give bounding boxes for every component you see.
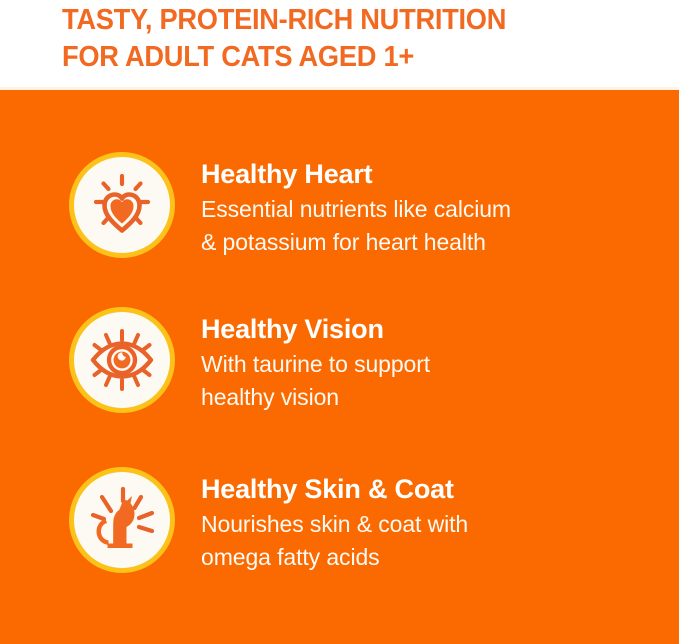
feature-title: Healthy Skin & Coat	[201, 473, 679, 505]
feature-text: Healthy Heart Essential nutrients like c…	[201, 152, 679, 259]
feature-description: With taurine to support healthy vision	[201, 348, 679, 414]
feature-description: Nourishes skin & coat with omega fatty a…	[201, 508, 679, 574]
eye-icon-badge	[69, 307, 175, 413]
feature-item-healthy-vision: Healthy Vision With taurine to support h…	[0, 307, 679, 414]
eye-rays-icon	[69, 307, 175, 413]
feature-description-line-1: With taurine to support	[201, 348, 679, 381]
promo-panel: TASTY, PROTEIN-RICH NUTRITION FOR ADULT …	[0, 0, 679, 644]
cat-icon-badge	[69, 467, 175, 573]
header: TASTY, PROTEIN-RICH NUTRITION FOR ADULT …	[0, 0, 679, 89]
feature-description: Essential nutrients like calcium & potas…	[201, 193, 679, 259]
feature-description-line-2: & potassium for heart health	[201, 226, 679, 259]
heart-icon-badge	[69, 152, 175, 258]
feature-text: Healthy Vision With taurine to support h…	[201, 307, 679, 414]
header-title-line-2: FOR ADULT CATS AGED 1+	[62, 39, 642, 76]
header-title-line-1: TASTY, PROTEIN-RICH NUTRITION	[62, 2, 642, 39]
feature-text: Healthy Skin & Coat Nourishes skin & coa…	[201, 467, 679, 574]
feature-description-line-1: Nourishes skin & coat with	[201, 508, 679, 541]
feature-item-healthy-heart: Healthy Heart Essential nutrients like c…	[0, 152, 679, 259]
cat-rays-icon	[69, 467, 175, 573]
feature-title: Healthy Heart	[201, 158, 679, 190]
feature-description-line-1: Essential nutrients like calcium	[201, 193, 679, 226]
heart-rays-icon	[69, 152, 175, 258]
feature-description-line-2: omega fatty acids	[201, 541, 679, 574]
feature-description-line-2: healthy vision	[201, 381, 679, 414]
features-panel: Healthy Heart Essential nutrients like c…	[0, 90, 679, 644]
feature-item-healthy-skin-and-coat: Healthy Skin & Coat Nourishes skin & coa…	[0, 467, 679, 574]
feature-title: Healthy Vision	[201, 313, 679, 345]
